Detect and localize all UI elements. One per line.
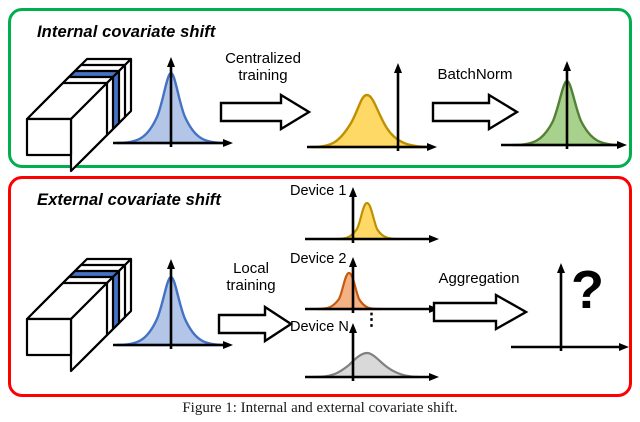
- question-mark-symbol: ?: [571, 263, 604, 317]
- figure-covariate-shift: Internal covariate shift: [0, 0, 640, 422]
- panel-internal-covariate-shift: Internal covariate shift: [8, 8, 632, 168]
- dist-internal-normalized: [497, 53, 631, 159]
- panel-title-internal: Internal covariate shift: [37, 23, 215, 42]
- dist-device-1: [295, 187, 445, 249]
- panel-external-covariate-shift: External covariate shift: [8, 176, 632, 397]
- flow-label-centralized-training: Centralized training: [211, 51, 315, 85]
- figure-caption: Figure 1: Internal and external covariat…: [0, 400, 640, 417]
- flow-label-local-training: Local training: [214, 261, 288, 295]
- dist-internal-shifted: [305, 59, 439, 159]
- arrow-centralized-training: [219, 93, 311, 131]
- arrow-local-training: [217, 305, 293, 343]
- panel-title-external: External covariate shift: [37, 191, 221, 210]
- dist-aggregated-unknown: [501, 255, 635, 365]
- dist-device-n: [295, 323, 445, 389]
